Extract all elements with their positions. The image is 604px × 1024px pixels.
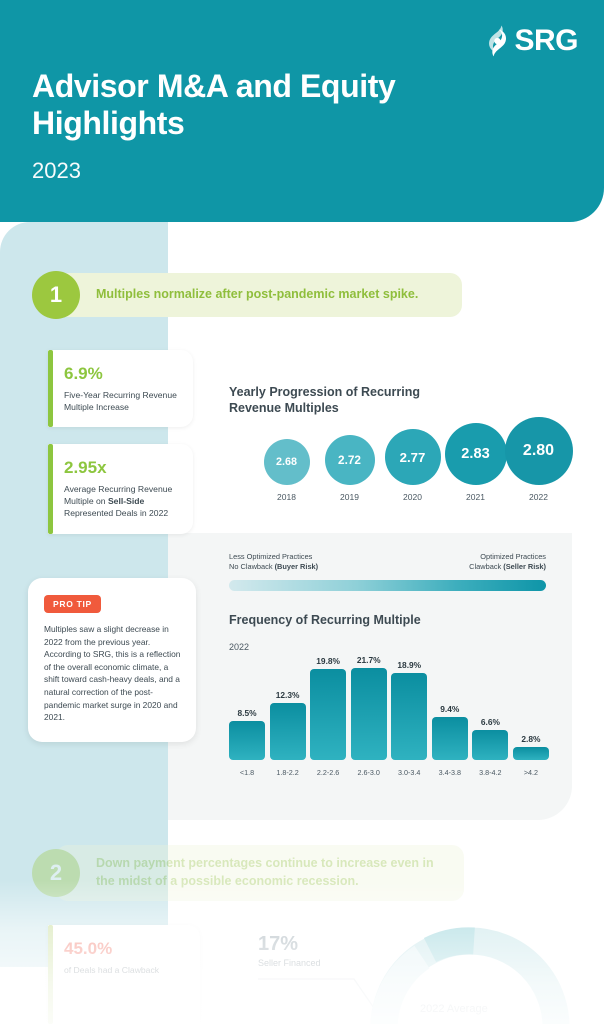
frequency-chart-title: Frequency of Recurring Multiple: [229, 612, 429, 628]
bar-value-label: 6.6%: [481, 717, 500, 727]
scale-left-risk: (Buyer Risk): [275, 562, 319, 571]
yearly-progression-chart: 2.6820182.7220192.7720202.8320212.802022: [255, 417, 570, 502]
section-1-badge: 1: [32, 271, 80, 319]
stat-description: Average Recurring Revenue Multiple on Se…: [64, 483, 179, 520]
yearly-progression-year: 2018: [277, 492, 296, 502]
bar-axis-label: 3.0-3.4: [391, 768, 427, 777]
scale-label-left: Less Optimized Practices No Clawback (Bu…: [229, 552, 318, 573]
optimization-scale: Less Optimized Practices No Clawback (Bu…: [229, 552, 546, 591]
yearly-multiple-circle: 2.80: [505, 417, 573, 485]
seller-financed-value: 17%: [258, 933, 298, 956]
infographic-page: SRG Advisor M&A and Equity Highlights 20…: [0, 0, 604, 1024]
yearly-progression-year: 2021: [466, 492, 485, 502]
stat-card-average-multiple: 2.95x Average Recurring Revenue Multiple…: [48, 444, 193, 534]
scale-left-line2: No Clawback: [229, 562, 275, 571]
yearly-progression-item: 2.682018: [255, 439, 318, 502]
bar-column: 8.5%: [229, 655, 265, 760]
bar-rect: [229, 721, 265, 760]
page-header: SRG Advisor M&A and Equity Highlights 20…: [0, 0, 604, 222]
section-2-badge: 2: [32, 849, 80, 897]
srg-logo: SRG: [482, 24, 578, 58]
pro-tip-badge: PRO TIP: [44, 595, 101, 613]
yearly-progression-year: 2019: [340, 492, 359, 502]
bar-column: 18.9%: [391, 655, 427, 760]
bar-axis-label: 2.6-3.0: [351, 768, 387, 777]
section-2-header: 2 Down payment percentages continue to i…: [32, 845, 464, 901]
seller-financed-label: Seller Financed: [258, 958, 321, 968]
bar-value-label: 12.3%: [276, 690, 300, 700]
bar-rect: [391, 673, 427, 760]
section-1-headline: Multiples normalize after post-pandemic …: [96, 286, 418, 304]
logo-wordmark: SRG: [514, 26, 578, 56]
stat-description: Five-Year Recurring Revenue Multiple Inc…: [64, 389, 179, 413]
bar-axis-label: 1.8-2.2: [270, 768, 306, 777]
bar-axis-label: <1.8: [229, 768, 265, 777]
bottom-preview-zone: 45.0% of Deals had a Clawback 17% Seller…: [0, 905, 604, 1024]
yearly-progression-year: 2022: [529, 492, 548, 502]
stat-value: 45.0%: [64, 939, 186, 959]
yearly-multiple-circle: 2.68: [264, 439, 310, 485]
scale-right-line1: Optimized Practices: [469, 552, 546, 562]
yearly-multiple-circle: 2.72: [325, 435, 375, 485]
yearly-progression-item: 2.832021: [444, 423, 507, 502]
srg-flame-icon: [482, 24, 512, 58]
stat-value: 6.9%: [64, 364, 179, 384]
stat-desc-bold: Sell-Side: [108, 496, 144, 506]
bar-value-label: 9.4%: [440, 704, 459, 714]
section-1-header: 1 Multiples normalize after post-pandemi…: [32, 271, 462, 319]
scale-label-right: Optimized Practices Clawback (Seller Ris…: [469, 552, 546, 573]
section-2-headline: Down payment percentages continue to inc…: [96, 855, 446, 891]
bar-value-label: 19.8%: [316, 656, 340, 666]
yearly-multiple-circle: 2.77: [385, 429, 441, 485]
bar-rect: [351, 668, 387, 760]
scale-right-risk: (Seller Risk): [503, 562, 546, 571]
bar-rect: [472, 730, 508, 760]
bar-column: 21.7%: [351, 655, 387, 760]
stat-value: 2.95x: [64, 458, 179, 478]
yearly-progression-title: Yearly Progression of Recurring Revenue …: [229, 384, 449, 417]
bar-value-label: 8.5%: [237, 708, 256, 718]
yearly-progression-item: 2.802022: [507, 417, 570, 502]
bar-value-label: 18.9%: [397, 660, 421, 670]
bar-axis-label: 2.2-2.6: [310, 768, 346, 777]
bar-column: 12.3%: [270, 655, 306, 760]
bar-axis-label: 3.4-3.8: [432, 768, 468, 777]
frequency-chart-x-axis: <1.81.8-2.22.2-2.62.6-3.03.0-3.43.4-3.83…: [229, 768, 549, 777]
bar-rect: [432, 717, 468, 760]
section-1-pill: Multiples normalize after post-pandemic …: [56, 273, 462, 317]
page-year: 2023: [32, 158, 81, 184]
yearly-progression-item: 2.722019: [318, 435, 381, 502]
scale-left-line1: Less Optimized Practices: [229, 552, 318, 562]
page-title: Advisor M&A and Equity Highlights: [32, 68, 502, 142]
scale-labels: Less Optimized Practices No Clawback (Bu…: [229, 552, 546, 573]
bar-column: 9.4%: [432, 655, 468, 760]
bar-rect: [270, 703, 306, 760]
stat-desc-post: Represented Deals in 2022: [64, 508, 168, 518]
leader-line-icon: [258, 977, 378, 1019]
bar-column: 2.8%: [513, 655, 549, 760]
yearly-progression-year: 2020: [403, 492, 422, 502]
bar-rect: [310, 669, 346, 760]
bar-rect: [513, 747, 549, 760]
frequency-chart-subtitle: 2022: [229, 642, 249, 652]
yearly-multiple-circle: 2.83: [445, 423, 507, 485]
gauge-average-label: 2022 Average: [420, 1003, 488, 1015]
bar-column: 6.6%: [472, 655, 508, 760]
bar-value-label: 2.8%: [521, 734, 540, 744]
bar-column: 19.8%: [310, 655, 346, 760]
stat-card-clawback: 45.0% of Deals had a Clawback: [48, 925, 200, 1024]
bar-value-label: 21.7%: [357, 655, 381, 665]
scale-gradient-bar: [229, 580, 546, 591]
bar-axis-label: >4.2: [513, 768, 549, 777]
pro-tip-body: Multiples saw a slight decrease in 2022 …: [44, 623, 181, 724]
frequency-bar-chart: 8.5%12.3%19.8%21.7%18.9%9.4%6.6%2.8%: [229, 655, 549, 760]
stat-description: of Deals had a Clawback: [64, 964, 186, 976]
bar-axis-label: 3.8-4.2: [472, 768, 508, 777]
stat-card-recurring-increase: 6.9% Five-Year Recurring Revenue Multipl…: [48, 350, 193, 427]
section-2-pill: Down payment percentages continue to inc…: [56, 845, 464, 901]
pro-tip-card: PRO TIP Multiples saw a slight decrease …: [28, 578, 196, 742]
scale-right-line2: Clawback: [469, 562, 503, 571]
yearly-progression-item: 2.772020: [381, 429, 444, 502]
